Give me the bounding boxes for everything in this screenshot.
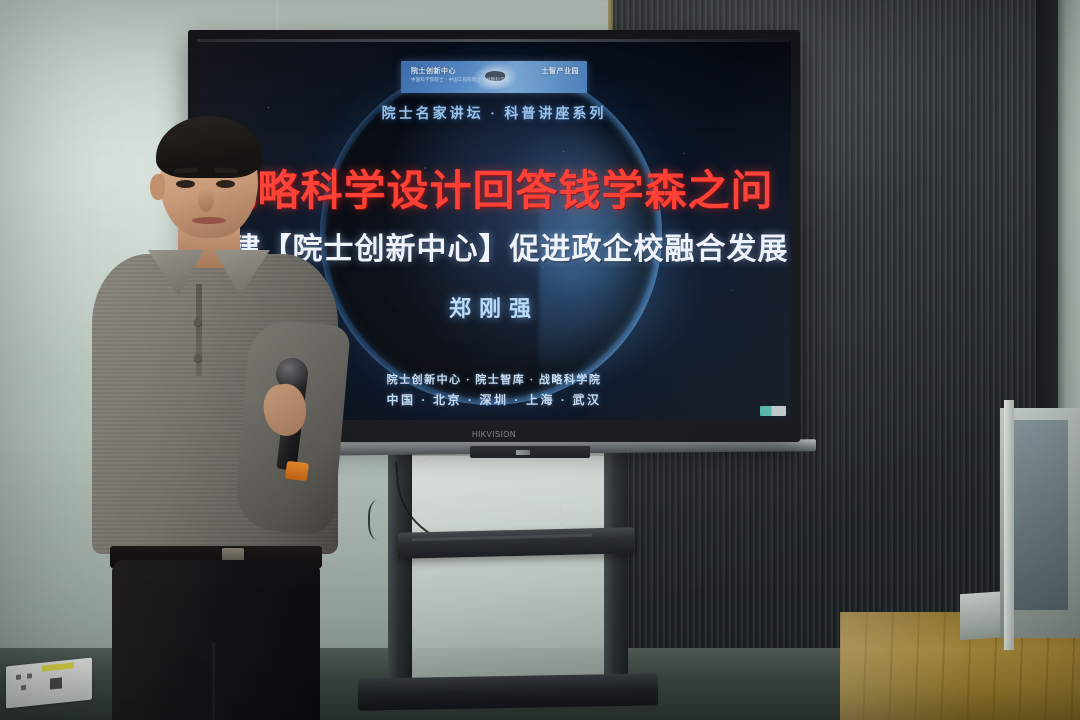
- right-pole: [1004, 400, 1014, 650]
- presenter-shirt-button: [194, 354, 202, 362]
- presenter-shirt-button: [194, 318, 202, 326]
- bezel-highlight: [197, 39, 791, 42]
- microphone-orange-band: [285, 461, 309, 482]
- presenter-nose: [198, 188, 214, 212]
- presenter-hair: [156, 116, 262, 178]
- bezel-sticker: [760, 406, 786, 416]
- presenter-eye-left: [176, 180, 195, 188]
- right-frame-inner: [1012, 420, 1068, 610]
- stand-control-hub[interactable]: [470, 446, 590, 458]
- presenter-ear: [150, 174, 165, 200]
- presenter-eye-right: [216, 180, 235, 188]
- presenter-trouser-seam: [212, 642, 215, 720]
- outlet-socket[interactable]: [14, 671, 36, 697]
- stand-hub-indicator: [516, 450, 530, 455]
- presenter-trousers: [112, 560, 320, 720]
- outlet-switch[interactable]: [50, 677, 62, 689]
- presenter-shirt-placket: [196, 284, 202, 376]
- stand-post-right: [604, 452, 628, 702]
- stand-cable-loop: [368, 500, 392, 540]
- stand-base: [358, 673, 658, 710]
- presenter-mouth: [192, 217, 226, 224]
- presenter: [86, 122, 356, 720]
- photo-scene: 院士创新中心 士智产业园 中国科学院院士 · 中国工程院院士 · 战略科学家 院…: [0, 0, 1080, 720]
